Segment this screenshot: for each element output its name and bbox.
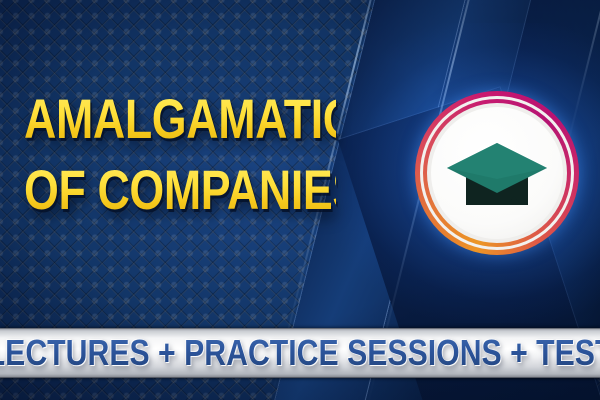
page-title: AMALGAMATION OF COMPANIES — [24, 92, 336, 218]
badge-face — [431, 107, 563, 239]
feature-banner-text: LECTURES + PRACTICE SESSIONS + TEST — [0, 335, 600, 371]
page-title-line-1: AMALGAMATION — [24, 92, 336, 147]
page-title-line-2: OF COMPANIES — [24, 163, 336, 218]
graduation-badge — [415, 91, 579, 255]
graduation-cap-icon — [444, 139, 550, 213]
feature-banner: LECTURES + PRACTICE SESSIONS + TEST — [0, 328, 600, 378]
course-thumbnail: AMALGAMATION OF COMPANIES LECTURES + P — [0, 0, 600, 400]
